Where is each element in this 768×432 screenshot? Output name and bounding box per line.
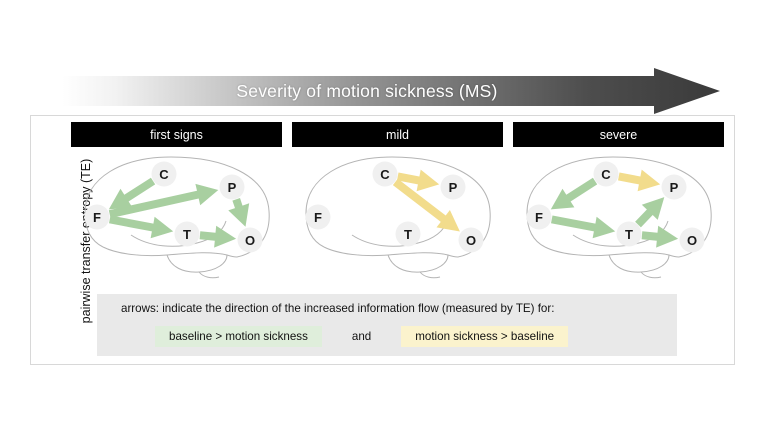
arrow-t-to-o [642, 226, 679, 248]
panel-label-first-signs: first signs [71, 122, 282, 147]
brain-diagram-first-signs: FCPTO [71, 151, 282, 279]
legend-conjunction: and [322, 330, 401, 343]
svg-text:C: C [159, 167, 169, 182]
arrow-f-to-t [109, 216, 173, 239]
svg-text:T: T [404, 227, 412, 242]
panel-severe: severeFCPTO [513, 122, 724, 297]
node-t: T [175, 222, 200, 247]
node-p: P [441, 175, 466, 200]
severity-gradient-arrow [62, 68, 720, 114]
legend-description: arrows: indicate the direction of the in… [121, 302, 554, 315]
panel-label-severe: severe [513, 122, 724, 147]
svg-text:T: T [183, 227, 191, 242]
svg-text:O: O [245, 233, 255, 248]
brain-diagram-mild: FCPTO [292, 151, 503, 279]
node-t: T [617, 222, 642, 247]
arrow-t-to-p [635, 197, 664, 227]
legend-chips: baseline > motion sickness and motion si… [155, 324, 675, 348]
arrow-c-to-p [618, 170, 660, 192]
arrow-t-to-o [200, 226, 237, 248]
node-t: T [396, 222, 421, 247]
svg-text:F: F [93, 210, 101, 225]
legend-chip-baseline-greater: baseline > motion sickness [155, 326, 322, 347]
node-o: O [680, 228, 705, 253]
node-f: F [306, 205, 331, 230]
svg-text:T: T [625, 227, 633, 242]
svg-text:O: O [466, 233, 476, 248]
legend-band: arrows: indicate the direction of the in… [97, 294, 677, 356]
node-o: O [459, 228, 484, 253]
arrow-f-to-t [551, 216, 615, 239]
arrow-p-to-o [228, 198, 249, 227]
node-p: P [662, 175, 687, 200]
panels-row: first signsFCPTOmildFCPTOsevereFCPTO [71, 122, 726, 297]
svg-text:O: O [687, 233, 697, 248]
node-c: C [373, 162, 398, 187]
svg-text:C: C [380, 167, 390, 182]
svg-text:F: F [314, 210, 322, 225]
figure-canvas: Severity of motion sickness (MS) pairwis… [0, 0, 768, 432]
node-c: C [594, 162, 619, 187]
node-f: F [85, 205, 110, 230]
legend-chip-ms-greater: motion sickness > baseline [401, 326, 568, 347]
node-p: P [220, 175, 245, 200]
svg-text:C: C [601, 167, 611, 182]
svg-text:P: P [228, 180, 237, 195]
svg-text:P: P [670, 180, 679, 195]
node-o: O [238, 228, 263, 253]
svg-text:P: P [449, 180, 458, 195]
svg-text:F: F [535, 210, 543, 225]
figure-frame: pairwise transfer entropy (TE) first sig… [30, 115, 735, 365]
panel-mild: mildFCPTO [292, 122, 503, 297]
panel-label-mild: mild [292, 122, 503, 147]
node-f: F [527, 205, 552, 230]
node-c: C [152, 162, 177, 187]
brain-diagram-severe: FCPTO [513, 151, 724, 279]
panel-first-signs: first signsFCPTO [71, 122, 282, 297]
arrow-c-to-f [551, 178, 597, 210]
